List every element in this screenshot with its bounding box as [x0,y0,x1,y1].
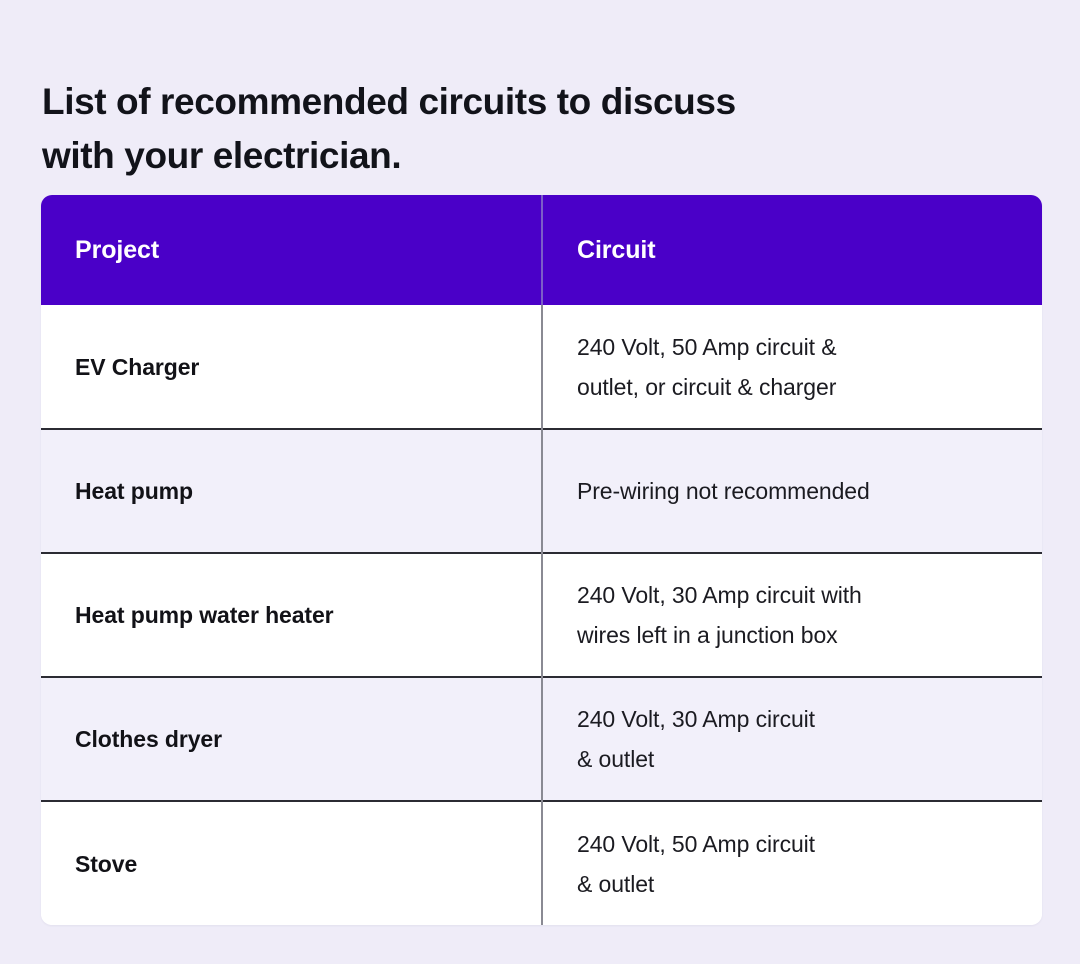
cell-circuit: 240 Volt, 50 Amp circuit & outlet, or ci… [542,305,1042,429]
table-body: EV Charger 240 Volt, 50 Amp circuit & ou… [41,305,1042,925]
recommended-circuits-table: Project Circuit EV Charger 240 Volt, 50 … [41,195,1042,925]
column-header-project: Project [41,195,542,305]
table-row: Heat pump water heater 240 Volt, 30 Amp … [41,553,1042,677]
page-root: List of recommended circuits to discuss … [0,0,1080,964]
table-header: Project Circuit [41,195,1042,305]
table-row: Stove 240 Volt, 50 Amp circuit & outlet [41,801,1042,925]
page-title: List of recommended circuits to discuss … [42,75,922,183]
column-header-circuit: Circuit [542,195,1042,305]
table-row: EV Charger 240 Volt, 50 Amp circuit & ou… [41,305,1042,429]
cell-circuit: 240 Volt, 30 Amp circuit with wires left… [542,553,1042,677]
table-row: Clothes dryer 240 Volt, 30 Amp circuit &… [41,677,1042,801]
cell-project: Stove [41,801,542,925]
cell-project: Heat pump water heater [41,553,542,677]
cell-circuit: Pre-wiring not recommended [542,429,1042,553]
cell-project: Heat pump [41,429,542,553]
cell-project: EV Charger [41,305,542,429]
cell-circuit: 240 Volt, 50 Amp circuit & outlet [542,801,1042,925]
table: Project Circuit EV Charger 240 Volt, 50 … [41,195,1042,925]
cell-circuit: 240 Volt, 30 Amp circuit & outlet [542,677,1042,801]
table-row: Heat pump Pre-wiring not recommended [41,429,1042,553]
table-header-row: Project Circuit [41,195,1042,305]
cell-project: Clothes dryer [41,677,542,801]
